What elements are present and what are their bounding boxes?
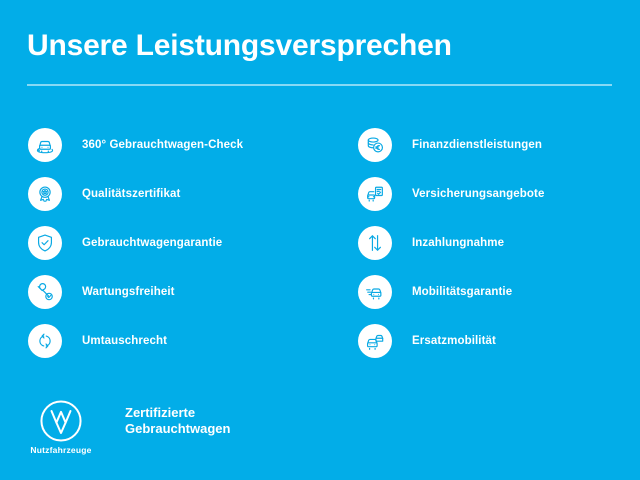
award-rosette-icon xyxy=(28,177,62,211)
footer-caption-line1: Zertifizierte xyxy=(125,405,230,421)
title-divider xyxy=(27,84,612,86)
list-item: Umtauschrecht xyxy=(28,316,308,365)
list-item-label: Wartungsfreiheit xyxy=(82,285,175,299)
list-item: Mobilitätsgarantie xyxy=(358,267,638,316)
brand-block: Nutzfahrzeuge xyxy=(28,398,94,455)
two-cars-icon xyxy=(358,324,392,358)
list-item-label: Ersatzmobilität xyxy=(412,334,496,348)
list-item: 360° Gebrauchtwagen-Check xyxy=(28,120,308,169)
vw-roundel-icon xyxy=(38,398,84,444)
page-title: Unsere Leistungsversprechen xyxy=(27,28,452,64)
car-360-check-icon xyxy=(28,128,62,162)
list-item-label: Gebrauchtwagengarantie xyxy=(82,236,222,250)
footer-caption-line2: Gebrauchtwagen xyxy=(125,421,230,437)
list-item-label: Umtauschrecht xyxy=(82,334,167,348)
car-document-check-icon xyxy=(358,177,392,211)
list-item: Gebrauchtwagengarantie xyxy=(28,218,308,267)
list-item-label: Finanzdienstleistungen xyxy=(412,138,542,152)
list-item: Ersatzmobilität xyxy=(358,316,638,365)
list-item-label: 360° Gebrauchtwagen-Check xyxy=(82,138,243,152)
up-down-arrows-icon xyxy=(358,226,392,260)
car-motion-icon xyxy=(358,275,392,309)
list-item: Wartungsfreiheit xyxy=(28,267,308,316)
promise-list-left: 360° Gebrauchtwagen-Check Qualitätszerti… xyxy=(28,120,308,365)
list-item: Versicherungsangebote xyxy=(358,169,638,218)
shield-check-icon xyxy=(28,226,62,260)
wrench-check-icon xyxy=(28,275,62,309)
promise-list-right: Finanzdienstleistungen Versicherungsange… xyxy=(358,120,638,365)
exchange-arrows-icon xyxy=(28,324,62,358)
list-item-label: Qualitätszertifikat xyxy=(82,187,180,201)
list-item-label: Inzahlungnahme xyxy=(412,236,504,250)
brand-subtitle: Nutzfahrzeuge xyxy=(30,445,91,455)
footer-caption: Zertifizierte Gebrauchtwagen xyxy=(125,405,230,437)
footer-brand: Nutzfahrzeuge Zertifizierte Gebrauchtwag… xyxy=(28,398,230,455)
list-item: Inzahlungnahme xyxy=(358,218,638,267)
list-item: Finanzdienstleistungen xyxy=(358,120,638,169)
list-item-label: Versicherungsangebote xyxy=(412,187,544,201)
coins-euro-icon xyxy=(358,128,392,162)
list-item: Qualitätszertifikat xyxy=(28,169,308,218)
list-item-label: Mobilitätsgarantie xyxy=(412,285,512,299)
promise-poster: Unsere Leistungsversprechen 360° Gebrauc… xyxy=(0,0,640,480)
